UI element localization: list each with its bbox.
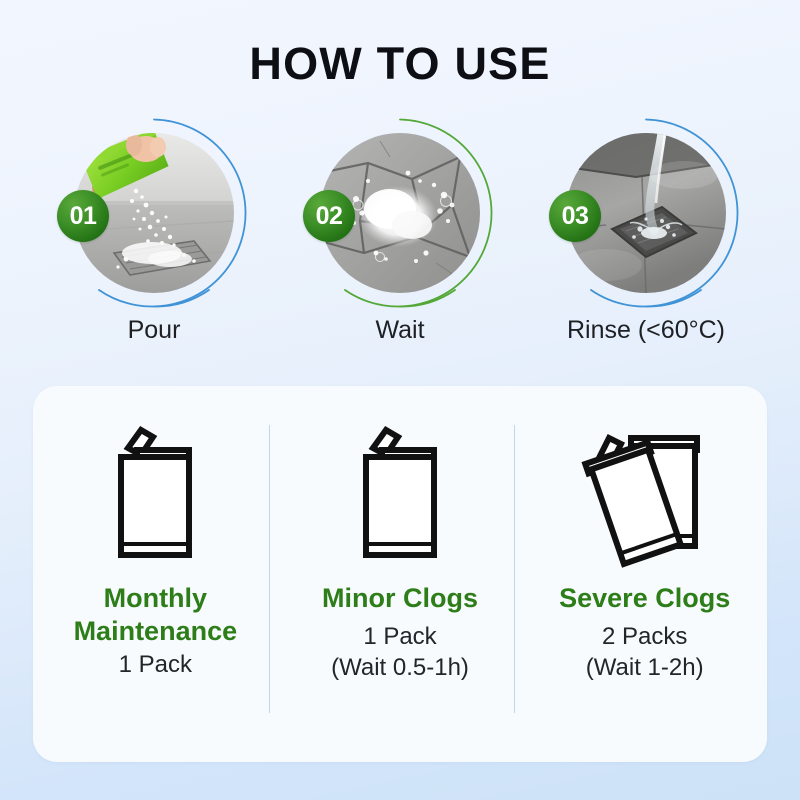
- step-item-03: 03 Rinse (<60°C): [523, 118, 769, 358]
- dosage-panel: Monthly Maintenance 1 Pack: [33, 386, 767, 762]
- double-sachet-icon: [561, 424, 729, 574]
- step-number-badge-02: 02: [303, 190, 355, 242]
- single-sachet-icon: [71, 424, 239, 574]
- dosage-card-sub-line1: 1 Pack: [33, 649, 278, 680]
- single-sachet-icon: [316, 424, 484, 574]
- step-number-badge-03: 03: [549, 190, 601, 242]
- dosage-card-title: Severe Clogs: [522, 582, 767, 615]
- steps-row: 01 Pour: [0, 118, 800, 358]
- dosage-card-severe-clogs: Severe Clogs 2 Packs (Wait 1-2h): [522, 386, 767, 762]
- dosage-card-title-line1: Minor Clogs: [278, 582, 523, 615]
- step-label-03: Rinse (<60°C): [523, 316, 769, 345]
- dosage-card-sub-line1: 2 Packs: [522, 621, 767, 652]
- dosage-card-subtitle: 1 Pack (Wait 0.5-1h): [278, 621, 523, 683]
- dosage-card-title-line1: Monthly: [33, 582, 278, 615]
- infographic-page: HOW TO USE: [0, 0, 800, 800]
- step-label-01: Pour: [31, 316, 277, 345]
- step-item-02: 02 Wait: [277, 118, 523, 358]
- dosage-card-title-line2: Maintenance: [33, 615, 278, 648]
- step-item-01: 01 Pour: [31, 118, 277, 358]
- dosage-card-title: Minor Clogs: [278, 582, 523, 615]
- step-label-02: Wait: [277, 316, 523, 345]
- dosage-card-title: Monthly Maintenance: [33, 582, 278, 648]
- step-circle-03: 03: [551, 118, 741, 308]
- dosage-card-sub-line1: 1 Pack: [278, 621, 523, 652]
- dosage-card-sub-line2: (Wait 1-2h): [522, 652, 767, 683]
- step-number-badge-01: 01: [57, 190, 109, 242]
- step-circle-01: 01: [59, 118, 249, 308]
- dosage-card-title-line1: Severe Clogs: [522, 582, 767, 615]
- step-circle-02: 02: [305, 118, 495, 308]
- page-title: HOW TO USE: [0, 38, 800, 90]
- dosage-card-subtitle: 2 Packs (Wait 1-2h): [522, 621, 767, 683]
- dosage-card-subtitle: 1 Pack: [33, 649, 278, 680]
- dosage-card-minor-clogs: Minor Clogs 1 Pack (Wait 0.5-1h): [278, 386, 523, 762]
- dosage-card-monthly-maintenance: Monthly Maintenance 1 Pack: [33, 386, 278, 762]
- dosage-card-sub-line2: (Wait 0.5-1h): [278, 652, 523, 683]
